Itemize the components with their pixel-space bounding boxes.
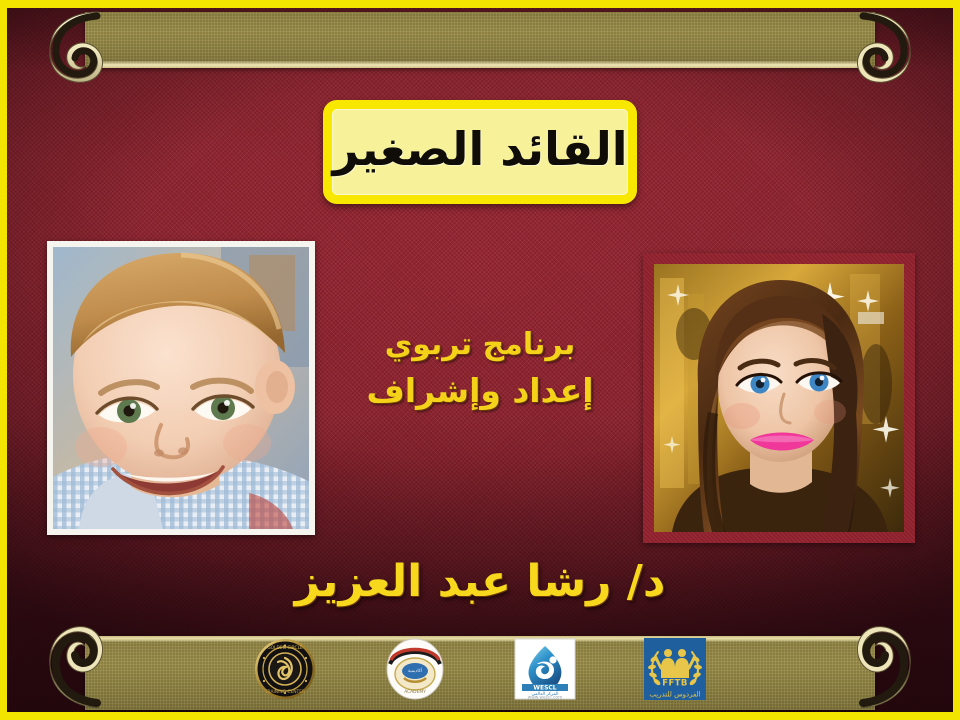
woman-photo-image [654,264,904,532]
scroll-ornament-top-left-icon [41,10,119,86]
poster-canvas: القائد الصغير [0,0,960,720]
scroll-ornament-top-right-icon [841,10,919,86]
center-text-block: برنامج تربوي إعداد وإشراف [320,326,640,413]
presenter-name: د/ رشا عبد العزيز [295,556,666,607]
svg-text:TRAINING CENTER: TRAINING CENTER [264,689,305,695]
wescl-wordmark: WESCL [533,685,556,692]
svg-text:أكاديمية: أكاديمية [408,667,422,674]
sponsor-logo-strip: GOLDEN CIRCLE TRAINING CENTER أكاديمية A… [7,634,953,704]
program-label: برنامج تربوي [320,326,640,364]
logo-wescl[interactable]: WESCL المركز العالمي www.wescl.com [514,638,576,700]
page-title: القائد الصغير [333,126,628,178]
logo-white-oval-emblem[interactable]: أكاديمية ACADEMY [384,638,446,700]
svg-text:www.wescl.com: www.wescl.com [528,695,563,701]
svg-text:GOLDEN CIRCLE: GOLDEN CIRCLE [267,645,303,651]
poster-background: القائد الصغير [7,8,953,712]
svg-text:ACADEMY: ACADEMY [404,689,426,695]
logo-black-gold-circle[interactable]: GOLDEN CIRCLE TRAINING CENTER [254,638,316,700]
logo-fftb[interactable]: FFTB الفردوس للتدريب [644,638,706,700]
fftb-wordmark: FFTB [662,679,688,689]
baby-photo-image [53,247,309,529]
baby-photo [47,241,315,535]
title-plaque: القائد الصغير [323,100,637,204]
top-banner [85,12,875,68]
woman-photo [643,253,915,543]
fftb-arabic-subtitle: الفردوس للتدريب [649,691,700,699]
prepared-by-label: إعداد وإشراف [320,370,640,412]
